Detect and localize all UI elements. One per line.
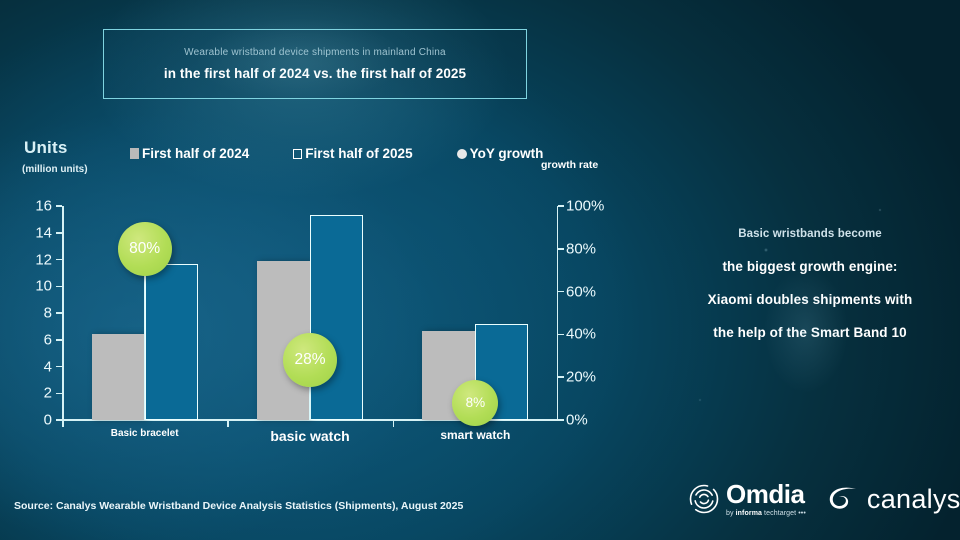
legend-label: First half of 2025 <box>305 146 412 161</box>
x-axis-tick <box>393 420 395 427</box>
y-axis-tick <box>56 286 62 288</box>
source-note: Source: Canalys Wearable Wristband Devic… <box>14 500 463 512</box>
y2-axis-tick-label: 80% <box>566 240 626 257</box>
y-axis-line <box>62 206 64 420</box>
x-axis-tick <box>227 420 229 427</box>
omdia-tag-dots: ••• <box>798 510 806 517</box>
y2-axis-line <box>557 206 559 420</box>
omdia-tag-brand: informa <box>736 510 762 517</box>
y-axis-title: Units <box>24 138 68 158</box>
title-subtitle: Wearable wristband device shipments in m… <box>184 47 446 58</box>
legend-label: YoY growth <box>470 146 544 161</box>
x-axis-category-label: basic watch <box>270 428 349 444</box>
x-axis-tick <box>62 420 64 427</box>
y2-axis-tick-label: 20% <box>566 369 626 386</box>
y-axis-tick-label: 10 <box>12 278 52 295</box>
canalys-logo: canalys <box>826 484 960 515</box>
y-axis-tick <box>56 339 62 341</box>
headline-block: Basic wristbands become the biggest grow… <box>690 228 930 340</box>
y2-axis-tick <box>558 334 564 336</box>
headline-line-2: the biggest growth engine: <box>690 259 930 274</box>
y-axis-tick-label: 0 <box>12 412 52 429</box>
legend-label: First half of 2024 <box>142 146 249 161</box>
y2-axis-tick-label: 100% <box>566 198 626 215</box>
y-axis-tick-label: 2 <box>12 385 52 402</box>
omdia-tag-prefix: by <box>726 510 736 517</box>
bar-2025[interactable] <box>310 215 363 420</box>
title-box: Wearable wristband device shipments in m… <box>103 29 527 99</box>
y-axis-tick-label: 16 <box>12 198 52 215</box>
y-axis-tick <box>56 393 62 395</box>
slide-canvas: Wearable wristband device shipments in m… <box>0 0 960 540</box>
chart-plot-area: 02468101214160%20%40%60%80%100%Basic bra… <box>62 206 558 420</box>
filled-square-icon <box>130 148 139 159</box>
bar-2024[interactable] <box>92 334 145 420</box>
y-axis-tick-label: 4 <box>12 358 52 375</box>
chart-legend: First half of 2024 First half of 2025 Yo… <box>130 146 587 161</box>
y-axis-tick <box>56 259 62 261</box>
x-axis-category-label: Basic bracelet <box>111 428 179 439</box>
omdia-wordmark: Omdia <box>726 481 806 507</box>
y2-axis-tick <box>558 376 564 378</box>
y-axis-tick-label: 12 <box>12 251 52 268</box>
filled-circle-icon <box>457 149 467 159</box>
y-axis-subtitle: (million units) <box>22 164 88 175</box>
y2-axis-tick <box>558 205 564 207</box>
y2-axis-tick-label: 0% <box>566 412 626 429</box>
omdia-mark-icon <box>688 483 720 515</box>
bar-2025[interactable] <box>145 264 198 420</box>
growth-bubble[interactable]: 8% <box>452 380 498 426</box>
legend-item-2025[interactable]: First half of 2025 <box>293 146 412 161</box>
legend-item-yoy-growth[interactable]: YoY growth <box>457 146 544 161</box>
y-axis-tick-label: 6 <box>12 331 52 348</box>
y-axis-tick-label: 8 <box>12 305 52 322</box>
headline-line-3: Xiaomi doubles shipments with <box>690 292 930 307</box>
x-axis-category-label: smart watch <box>440 428 510 442</box>
growth-bubble[interactable]: 28% <box>283 333 337 387</box>
y-axis-tick <box>56 205 62 207</box>
logo-row: Omdia by informa techtarget ••• canalys <box>688 481 960 517</box>
title-main: in the first half of 2024 vs. the first … <box>164 66 466 81</box>
canalys-mark-icon <box>826 484 860 514</box>
y-axis-tick <box>56 312 62 314</box>
y-axis-tick <box>56 232 62 234</box>
y2-axis-tick <box>558 291 564 293</box>
y2-axis-tick <box>558 419 564 421</box>
y2-axis-tick-label: 40% <box>566 326 626 343</box>
omdia-tag-suffix: techtarget <box>762 510 796 517</box>
legend-item-2024[interactable]: First half of 2024 <box>130 146 249 161</box>
omdia-logo: Omdia by informa techtarget ••• <box>688 481 806 517</box>
headline-line-4: the help of the Smart Band 10 <box>690 325 930 340</box>
canalys-wordmark: canalys <box>867 484 960 515</box>
growth-bubble[interactable]: 80% <box>118 222 172 276</box>
y-axis-tick-label: 14 <box>12 224 52 241</box>
headline-line-1: Basic wristbands become <box>690 228 930 240</box>
open-square-icon <box>293 149 302 159</box>
y2-axis-tick <box>558 248 564 250</box>
y-axis-tick <box>56 366 62 368</box>
y2-axis-tick-label: 60% <box>566 283 626 300</box>
omdia-tagline: by informa techtarget ••• <box>726 510 806 517</box>
